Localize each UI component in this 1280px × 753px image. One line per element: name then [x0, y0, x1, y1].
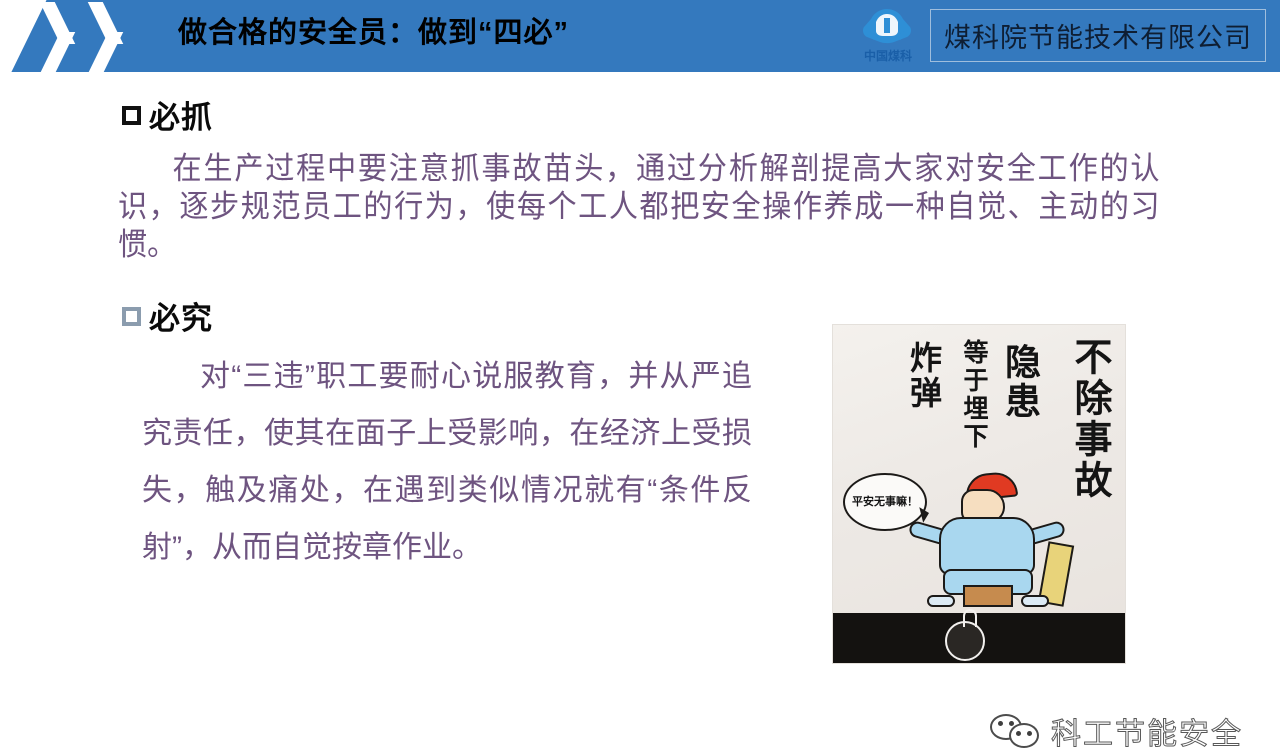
cartoon-calligraphy-column-4: 炸弹 [909, 341, 939, 411]
worker-left-shoe [927, 595, 955, 607]
wechat-eye [1016, 731, 1021, 736]
square-bullet-icon [122, 106, 141, 125]
cartoon-worker-figure [903, 473, 1083, 613]
section-heading-label: 必抓 [149, 92, 213, 137]
page-title: 做合格的安全员：做到“四必” [178, 13, 569, 53]
worker-stool [963, 585, 1013, 607]
section-body-bijiu: 对“三违”职工要耐心说服教育，并从严追究责任，使其在面子上受影响，在经济上受损失… [142, 348, 752, 576]
slide-header-band: 做合格的安全员：做到“四必” 中国煤科 煤科院节能技术有限公司 [0, 0, 1280, 72]
company-name: 煤科院节能技术有限公司 [944, 16, 1252, 55]
cartoon-calligraphy-column-2: 隐患 [1003, 343, 1037, 421]
wechat-eye [1009, 721, 1014, 726]
wechat-watermark: 科工节能安全 [990, 709, 1243, 753]
china-coal-science-logo-icon [860, 7, 914, 45]
section-heading-label: 必究 [149, 293, 213, 338]
chevron-right-icon [92, 4, 138, 68]
wechat-eye [1027, 731, 1032, 736]
wechat-icon [990, 714, 1042, 748]
company-name-box: 煤科院节能技术有限公司 [930, 9, 1266, 62]
chevron-right-icon [44, 4, 90, 68]
square-bullet-icon [122, 307, 141, 326]
cartoon-calligraphy-column-3: 等于埋下 [961, 339, 985, 451]
section-body-bizhua: 在生产过程中要注意抓事故苗头，通过分析解剖提高大家对安全工作的认识，逐步规范员工… [118, 150, 1160, 264]
worker-right-shoe [1021, 595, 1049, 607]
logo-caption: 中国煤科 [852, 47, 924, 64]
section-heading-bijiu: 必究 [122, 293, 213, 338]
wechat-watermark-label: 科工节能安全 [1051, 709, 1243, 753]
section-heading-bizhua: 必抓 [122, 92, 213, 137]
worker-torso [939, 517, 1035, 575]
safety-cartoon-image: 不除事故 隐患 等于埋下 炸弹 平安无事嘛！ [833, 325, 1125, 663]
company-logo: 中国煤科 [852, 5, 924, 67]
wechat-bubble-small [1009, 723, 1039, 748]
cartoon-bomb-icon [945, 621, 985, 661]
wechat-eye [998, 721, 1003, 726]
cartoon-floor-band [833, 613, 1125, 663]
slide-content: 必抓 在生产过程中要注意抓事故苗头，通过分析解剖提高大家对安全工作的认识，逐步规… [0, 72, 1280, 720]
